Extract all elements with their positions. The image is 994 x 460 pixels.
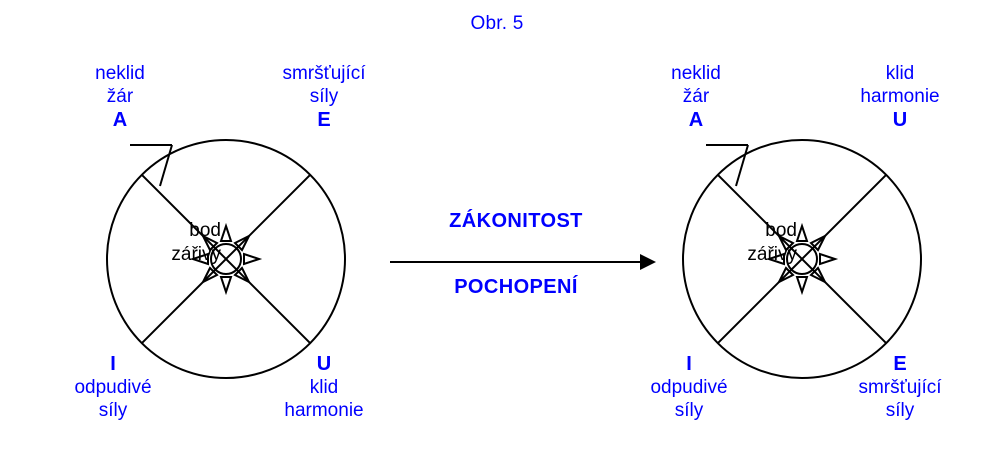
quadrant-letter: A (636, 108, 756, 132)
quadrant-term-line1: smršťující (254, 62, 394, 85)
quadrant-term-line2: harmonie (256, 399, 392, 422)
quadrant-label-top-right: klid harmonie U (830, 62, 970, 132)
quadrant-label-bottom-right: E smršťující síly (832, 352, 968, 422)
quadrant-letter: U (830, 108, 970, 132)
quadrant-term-line1: odpudivé (624, 376, 754, 399)
quadrant-label-bottom-left: I odpudivé síly (624, 352, 754, 422)
orientation-pointer (736, 145, 748, 186)
quadrant-letter: I (624, 352, 754, 376)
quadrant-label-top-left: neklid žár A (636, 62, 756, 132)
center-label-line2: zářivý (101, 243, 221, 267)
quadrant-term-line1: neklid (636, 62, 756, 85)
quadrant-label-top-left: neklid žár A (60, 62, 180, 132)
quadrant-term-line2: síly (832, 399, 968, 422)
quadrant-letter: E (832, 352, 968, 376)
center-label-line2: zářivý (677, 243, 797, 267)
quadrant-letter: U (256, 352, 392, 376)
quadrant-letter: A (60, 108, 180, 132)
figure-canvas: Obr. 5 bod (0, 0, 994, 460)
before-diagram: bod zářivý neklid žár A smršťující síly … (26, 62, 426, 442)
quadrant-term-line1: smršťující (832, 376, 968, 399)
center-label: bod zářivý (101, 219, 221, 267)
quadrant-term-line2: síly (624, 399, 754, 422)
quadrant-letter: E (254, 108, 394, 132)
orientation-pointer (160, 145, 172, 186)
quadrant-term-line1: klid (256, 376, 392, 399)
quadrant-term-line2: síly (48, 399, 178, 422)
quadrant-label-bottom-right: U klid harmonie (256, 352, 392, 422)
quadrant-term-line2: síly (254, 85, 394, 108)
quadrant-term-line1: neklid (60, 62, 180, 85)
quadrant-term-line1: odpudivé (48, 376, 178, 399)
quadrant-term-line1: klid (830, 62, 970, 85)
center-label-line1: bod (101, 219, 221, 243)
center-label: bod zářivý (677, 219, 797, 267)
center-label-line1: bod (677, 219, 797, 243)
quadrant-term-line2: žár (636, 85, 756, 108)
figure-title: Obr. 5 (0, 13, 994, 35)
quadrant-term-line2: harmonie (830, 85, 970, 108)
quadrant-term-line2: žár (60, 85, 180, 108)
quadrant-letter: I (48, 352, 178, 376)
quadrant-label-bottom-left: I odpudivé síly (48, 352, 178, 422)
quadrant-label-top-right: smršťující síly E (254, 62, 394, 132)
after-diagram: bod zářivý neklid žár A klid harmonie U … (602, 62, 994, 442)
